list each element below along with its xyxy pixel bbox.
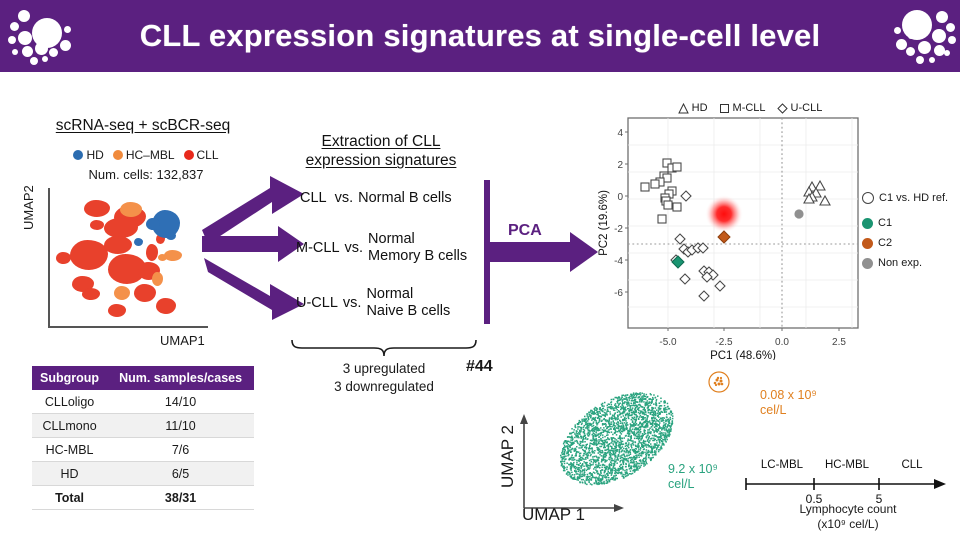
color-legend-c1-vs-hd: C1 vs. HD ref. [862,192,948,204]
annotation-unit: cel/L [668,477,694,491]
summary-downregulated: 3 downregulated [334,379,434,394]
umap2-y-axis-label: UMAP 2 [498,425,518,488]
svg-text:4: 4 [617,128,623,139]
comparison-rhs: Normal Naive B cells [366,286,450,319]
table-header-row: Subgroup Num. samples/cases [32,366,254,390]
lymphocyte-axis-caption: Lymphocyte count (x10⁹ cel/L) [740,502,956,532]
arrow-down-icon [204,258,304,320]
legend-label: CLL [197,148,219,162]
color-legend-non-exp: Non exp. [862,258,948,269]
branching-arrows [200,170,310,320]
table-cell-subgroup: HC-MBL [32,438,107,462]
y-axis-arrow-icon [520,414,528,424]
comparison-rhs-line2: Naive B cells [366,303,450,319]
umap-y-axis-label: UMAP2 [21,185,36,230]
page-title: CLL expression signatures at single-cell… [0,0,960,72]
umap-x-axis-label: UMAP1 [160,333,205,348]
cluster-main-clone [560,392,674,485]
svg-text:2: 2 [617,160,623,171]
pca-x-axis-label: PC1 (48.6%) [710,350,776,360]
umap-y-axis [48,188,50,328]
legend-item-hcmbl: HC–MBL [113,148,175,162]
svg-text:-2.5: -2.5 [715,337,733,348]
table-cell-value: 6/5 [107,462,254,486]
band-label-cll: CLL [901,459,923,471]
pca-arrow-group [482,178,610,326]
table-cell-value: 38/31 [107,486,254,510]
cluster-minor-clone [709,372,729,392]
slide-canvas: CLL expression signatures at single-cell… [0,0,960,541]
table-cell-value: 7/6 [107,438,254,462]
legend-label: HC–MBL [126,148,175,162]
annotation-unit: cel/L [760,403,786,417]
table-row: HC-MBL 7/6 [32,438,254,462]
band-label-hc-mbl: HC-MBL [825,459,870,471]
umap2-x-axis-label: UMAP 1 [522,505,585,525]
table-row: HD 6/5 [32,462,254,486]
summary-upregulated: 3 upregulated [343,361,426,376]
table-row: CLLmono 11/10 [32,414,254,438]
circle-icon [862,238,873,249]
table-header-samples: Num. samples/cases [107,366,254,390]
subgroup-table: Subgroup Num. samples/cases CLLoligo 14/… [32,366,254,510]
comparison-lhs: CLL [300,190,327,206]
color-legend-label: C1 vs. HD ref. [879,193,948,204]
svg-text:-6: -6 [614,288,623,299]
legend-dot-icon [73,150,83,160]
comparison-rhs-line1: Normal [366,286,413,302]
color-legend-c2: C2 [862,238,948,249]
annotation-minor-clone: 0.08 x 10⁹ cel/L [760,388,817,418]
pca-y-axis-label: PC2 (19.6%) [598,190,610,256]
annotation-value: 9.2 x 10⁹ [668,462,718,476]
comparison-lhs: M-CLL [296,240,340,256]
table-cell-subgroup: CLLoligo [32,390,107,414]
svg-text:-2: -2 [614,224,623,235]
pca-color-legend: C1 vs. HD ref. C1 C2 Non exp. [862,192,948,278]
table-cell-subgroup: Total [32,486,107,510]
point-non-exp [794,209,803,218]
regulation-summary: 3 upregulated 3 downregulated [288,360,480,396]
comparison-row-mcll: M-CLL vs. Normal Memory B cells [296,231,467,264]
comparison-vs: vs. [335,190,354,206]
legend-item-hd: HD [73,148,103,162]
legend-dot-icon [184,150,194,160]
svg-text:0.0: 0.0 [775,337,789,348]
umap-x-axis [48,326,208,328]
svg-text:-4: -4 [614,256,623,267]
comparison-row-ucll: U-CLL vs. Normal Naive B cells [296,286,450,319]
svg-text:0: 0 [617,192,623,203]
color-legend-label: Non exp. [878,258,922,269]
band-label-lc-mbl: LC-MBL [761,459,804,471]
table-row: CLLoligo 14/10 [32,390,254,414]
highlight-glow [705,195,743,233]
comparison-vs: vs. [345,240,364,256]
svg-text:2.5: 2.5 [832,337,846,348]
comparison-rhs-line2: Memory B cells [368,248,467,264]
table-header-subgroup: Subgroup [32,366,107,390]
umap-panel-title: scRNA-seq + scBCR-seq [38,116,248,135]
table-cell-value: 14/10 [107,390,254,414]
caption-line2: (x10⁹ cel/L) [817,517,878,531]
comparison-rhs-line1: Normal [368,231,415,247]
circle-icon [862,258,873,269]
circle-icon [862,218,873,229]
svg-text:-5.0: -5.0 [659,337,677,348]
color-legend-label: C2 [878,238,892,249]
sample-label-44: #44 [466,358,493,376]
x-axis-arrow-icon [614,504,624,512]
umap-scatter-plot [48,188,208,328]
extraction-title: Extraction of CLL expression signatures [286,132,476,171]
table-cell-subgroup: CLLmono [32,414,107,438]
legend-label: HD [86,148,103,162]
table-cell-subgroup: HD [32,462,107,486]
comparison-vs: vs. [343,295,362,311]
extraction-title-line1: Extraction of CLL [322,133,441,150]
color-legend-c1: C1 [862,218,948,229]
table-cell-value: 11/10 [107,414,254,438]
comparison-row-cll: CLL vs. Normal B cells [300,190,452,207]
legend-dot-icon [113,150,123,160]
axis-arrow-icon [934,479,946,489]
comparison-rhs: Normal Memory B cells [368,231,467,264]
header-underline [0,72,960,77]
color-legend-label: C1 [878,218,892,229]
comparison-lhs: U-CLL [296,295,338,311]
extraction-title-line2: expression signatures [306,152,457,169]
annotation-main-clone: 9.2 x 10⁹ cel/L [668,462,718,492]
arrow-right-icon [488,232,598,272]
pca-step-label: PCA [508,222,542,240]
umap-legend: HD HC–MBL CLL [46,146,246,164]
circle-open-icon [862,192,874,204]
summary-brace-icon [288,338,480,360]
caption-line1: Lymphocyte count [800,502,897,516]
comparison-rhs: Normal B cells [358,190,451,207]
table-row-total: Total 38/31 [32,486,254,510]
annotation-value: 0.08 x 10⁹ [760,388,817,402]
legend-item-cll: CLL [184,148,219,162]
